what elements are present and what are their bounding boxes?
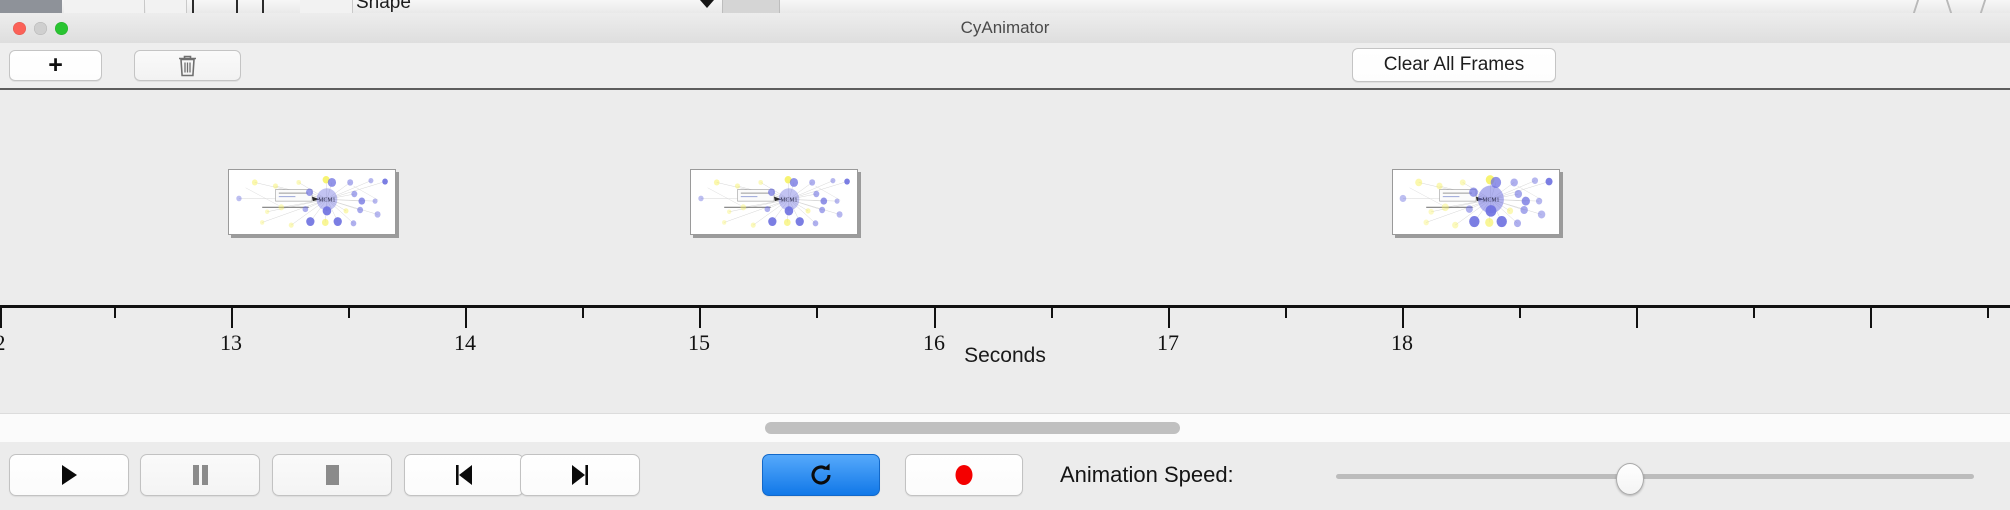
axis-tick-major <box>1636 308 1638 328</box>
background-window-strip: Shape <box>0 0 2010 13</box>
delete-frame-button[interactable] <box>134 50 241 81</box>
axis-title: Seconds <box>0 344 2010 368</box>
skip-back-icon <box>453 464 475 486</box>
minimize-button[interactable] <box>34 22 47 35</box>
window-title: CyAnimator <box>0 13 2010 43</box>
zoom-button[interactable] <box>55 22 68 35</box>
axis-tick-minor <box>1051 308 1053 318</box>
bg-tick <box>192 0 194 13</box>
next-frame-button[interactable] <box>520 454 640 496</box>
svg-text:MCM1: MCM1 <box>780 198 797 204</box>
bg-slash <box>1946 0 1952 13</box>
axis-tick-major <box>934 308 936 328</box>
bg-block <box>300 0 353 13</box>
play-button[interactable] <box>9 454 129 496</box>
pause-icon <box>190 464 210 486</box>
svg-text:MCM1: MCM1 <box>318 198 335 204</box>
axis-tick-minor <box>1753 308 1755 318</box>
axis-tick-major <box>231 308 233 328</box>
close-button[interactable] <box>13 22 26 35</box>
bg-slash <box>1913 0 1919 13</box>
axis-tick-minor <box>1285 308 1287 318</box>
keyframe-thumbnail[interactable]: MCM1 <box>228 169 396 235</box>
title-bar: CyAnimator <box>0 13 2010 44</box>
axis-tick-major <box>1870 308 1872 328</box>
bg-slash <box>1980 0 1986 13</box>
axis-tick-major <box>465 308 467 328</box>
axis-tick-major <box>1402 308 1404 328</box>
clear-all-frames-label: Clear All Frames <box>1384 54 1524 76</box>
add-frame-button[interactable]: + <box>9 50 102 81</box>
axis-tick-minor <box>114 308 116 318</box>
timeline-axis <box>0 305 2010 308</box>
timeline-scrollbar[interactable] <box>0 413 2010 443</box>
bg-tick <box>262 0 264 13</box>
record-button[interactable] <box>905 454 1023 496</box>
axis-tick-minor <box>582 308 584 318</box>
bg-block <box>64 0 145 13</box>
loop-icon <box>808 462 834 488</box>
skip-forward-icon <box>569 464 591 486</box>
timeline-panel: MCM1 MCM1 MCM1 2131415161718 Seconds <box>0 90 2010 413</box>
bg-selected-block <box>0 0 62 13</box>
bg-block <box>146 0 187 13</box>
toolbar: + Clear All Frames <box>0 43 2010 88</box>
bg-tick <box>236 0 238 13</box>
axis-tick-major <box>1168 308 1170 328</box>
clear-all-frames-button[interactable]: Clear All Frames <box>1352 48 1556 82</box>
keyframe-thumbnail[interactable]: MCM1 <box>690 169 858 235</box>
traffic-lights <box>13 22 68 35</box>
loop-button[interactable] <box>762 454 880 496</box>
cyanimator-window: Shape CyAnimator + Clear All Fram <box>0 0 2010 510</box>
trash-icon <box>177 54 198 78</box>
stop-button[interactable] <box>272 454 392 496</box>
axis-tick-major <box>699 308 701 328</box>
axis-tick-major <box>0 308 2 328</box>
transport-bar: Animation Speed: <box>0 442 2010 510</box>
axis-tick-minor <box>1519 308 1521 318</box>
svg-text:MCM1: MCM1 <box>1482 198 1499 204</box>
play-icon <box>59 464 79 486</box>
record-icon <box>951 462 977 488</box>
animation-speed-slider[interactable] <box>1336 474 1974 479</box>
bg-window-label: Shape <box>356 0 411 9</box>
axis-tick-minor <box>348 308 350 318</box>
axis-tick-minor <box>816 308 818 318</box>
keyframe-thumbnail[interactable]: MCM1 <box>1392 169 1560 235</box>
bg-caret-icon <box>700 0 714 8</box>
axis-tick-minor <box>1987 308 1989 318</box>
stop-icon <box>322 464 342 486</box>
prev-frame-button[interactable] <box>404 454 524 496</box>
animation-speed-slider-thumb[interactable] <box>1616 463 1644 495</box>
animation-speed-label: Animation Speed: <box>1060 454 1234 496</box>
scrollbar-thumb[interactable] <box>765 422 1180 434</box>
plus-icon: + <box>48 53 63 78</box>
bg-block <box>722 0 780 13</box>
pause-button[interactable] <box>140 454 260 496</box>
